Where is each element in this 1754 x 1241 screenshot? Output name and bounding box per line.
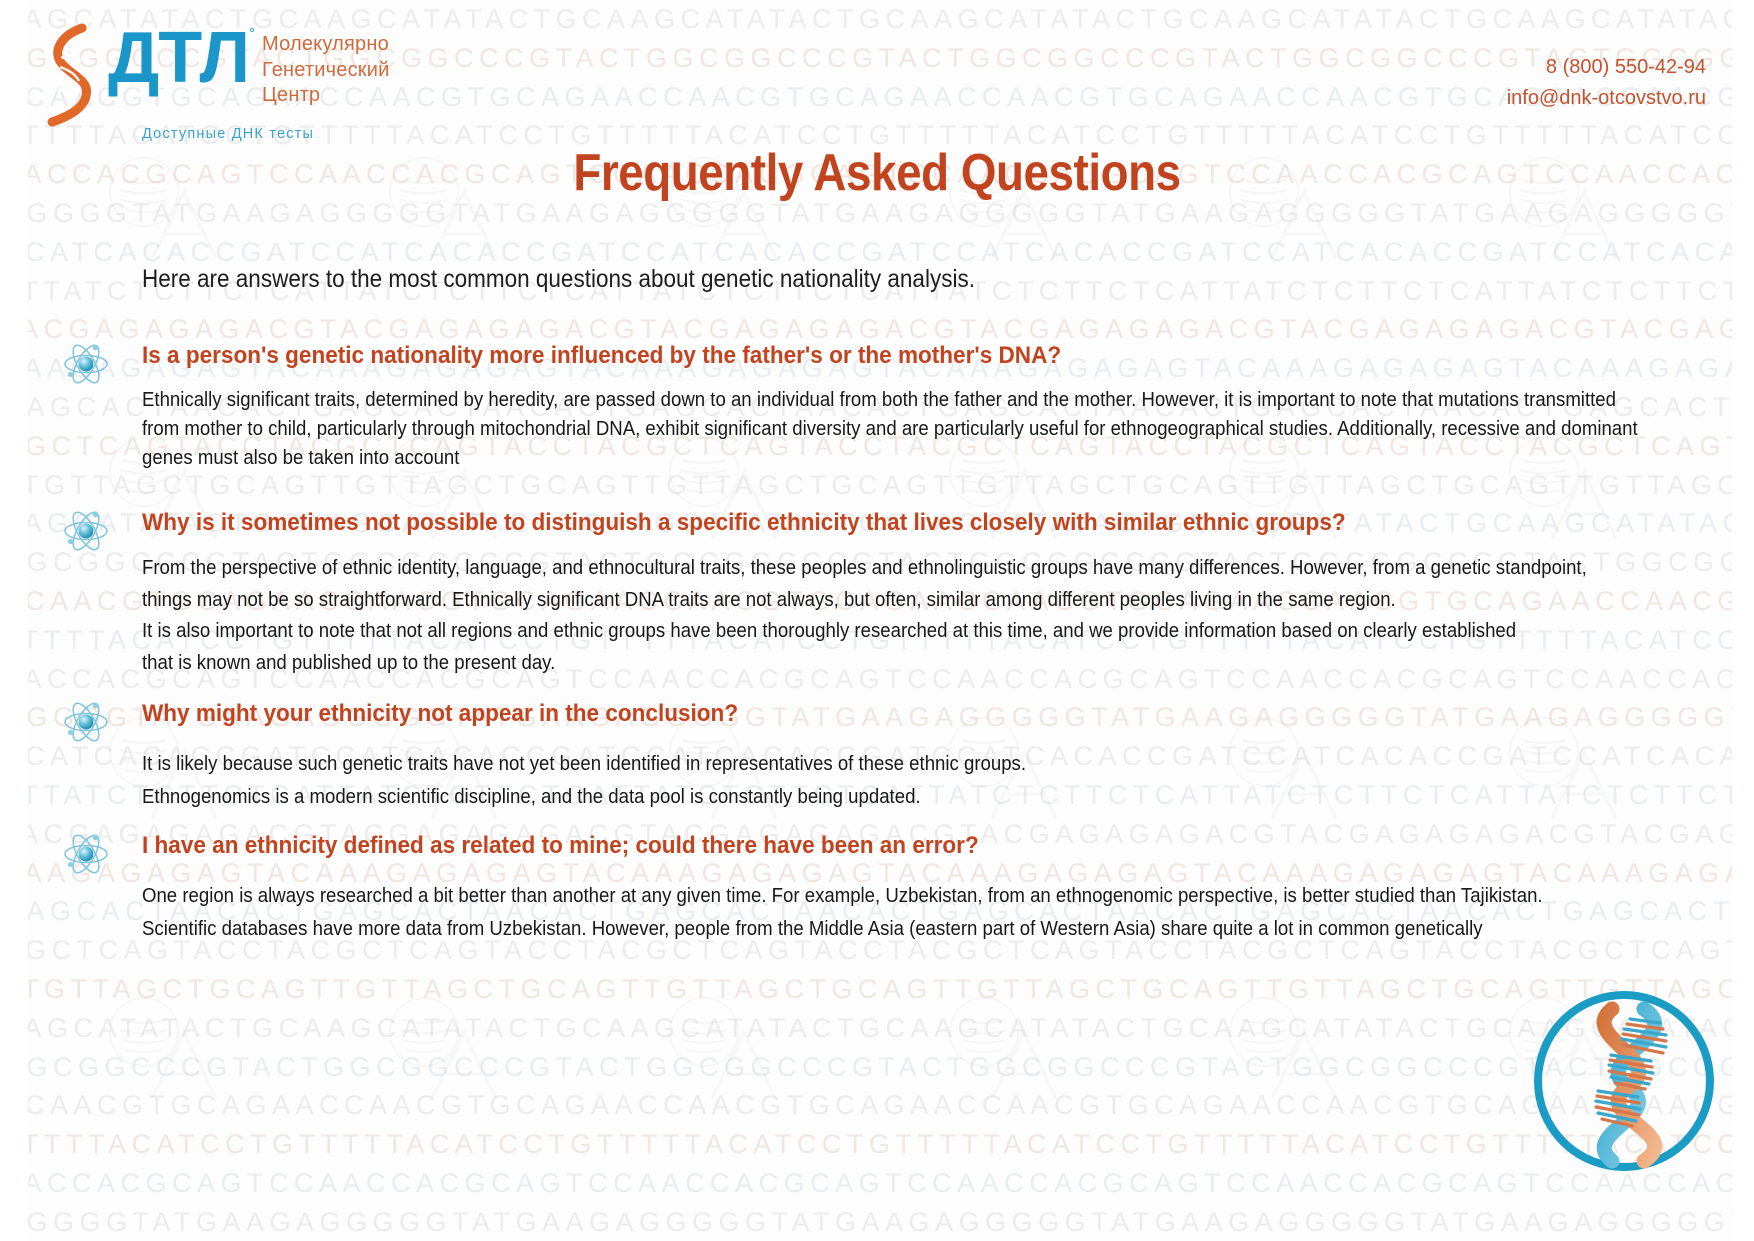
atom-icon	[62, 832, 110, 876]
faq-answer-line: From the perspective of ethnic identity,…	[142, 553, 1576, 585]
faq-answer-line: Ethnically significant traits, determine…	[142, 386, 1576, 415]
logo-subtitle-line-1: Молекулярно	[262, 32, 390, 58]
faq-answer-line: It is also important to note that not al…	[142, 616, 1576, 648]
faq-answer-line: that is known and published up to the pr…	[142, 648, 1576, 680]
faq-item: I have an ethnicity defined as related t…	[0, 830, 1754, 946]
faq-answer-line: Ethnogenomics is a modern scientific dis…	[142, 781, 1576, 814]
page-title: Frequently Asked Questions	[105, 142, 1649, 204]
faq-answer-line: from mother to child, particularly throu…	[142, 415, 1576, 444]
dna-helix-icon	[42, 22, 104, 127]
contact-phone[interactable]: 8 (800) 550-42-94	[1507, 52, 1706, 83]
page-header: ДТЛ ° Молекулярно Генетический Центр Дос…	[0, 0, 1754, 130]
dna-helix-circle-logo	[1526, 983, 1722, 1179]
logo-registered-mark: °	[249, 26, 255, 41]
faq-answer: It is likely because such genetic traits…	[142, 748, 1576, 814]
logo-wordmark: ДТЛ	[108, 22, 249, 94]
logo-subtitle-line-2: Генетический	[262, 58, 390, 84]
faq-answer: One region is always researched a bit be…	[142, 880, 1576, 946]
faq-answer-line: genes must also be taken into account	[142, 444, 1576, 473]
faq-page: AAGCATATACTGCAAGCATATACTGCAAGCATATACTGCA…	[0, 0, 1754, 1241]
faq-item: Why might your ethnicity not appear in t…	[0, 698, 1754, 814]
faq-answer-line: It is likely because such genetic traits…	[142, 748, 1576, 781]
intro-text: Here are answers to the most common ques…	[142, 262, 1485, 296]
faq-answer: From the perspective of ethnic identity,…	[142, 553, 1576, 679]
faq-answer-line: Scientific databases have more data from…	[142, 913, 1576, 946]
faq-question: Why might your ethnicity not appear in t…	[142, 698, 1561, 730]
atom-icon	[62, 509, 110, 553]
faq-answer: Ethnically significant traits, determine…	[142, 386, 1576, 473]
atom-icon	[62, 700, 110, 744]
atom-icon	[62, 342, 110, 386]
faq-answer-line: One region is always researched a bit be…	[142, 880, 1576, 913]
faq-question: Is a person's genetic nationality more i…	[142, 340, 1561, 372]
faq-answer-line: things may not be so straightforward. Et…	[142, 585, 1576, 617]
company-logo[interactable]: ДТЛ ° Молекулярно Генетический Центр Дос…	[42, 22, 390, 127]
logo-tagline: Доступные ДНК тесты	[142, 126, 314, 142]
faq-question: I have an ethnicity defined as related t…	[142, 830, 1561, 862]
logo-subtitle-line-3: Центр	[262, 83, 390, 109]
contact-email[interactable]: info@dnk-otcovstvo.ru	[1507, 83, 1706, 114]
faq-question: Why is it sometimes not possible to dist…	[142, 507, 1561, 539]
contact-info: 8 (800) 550-42-94 info@dnk-otcovstvo.ru	[1507, 52, 1706, 114]
logo-subtitle: Молекулярно Генетический Центр	[262, 32, 390, 109]
faq-item: Why is it sometimes not possible to dist…	[0, 507, 1754, 679]
faq-item: Is a person's genetic nationality more i…	[0, 340, 1754, 473]
